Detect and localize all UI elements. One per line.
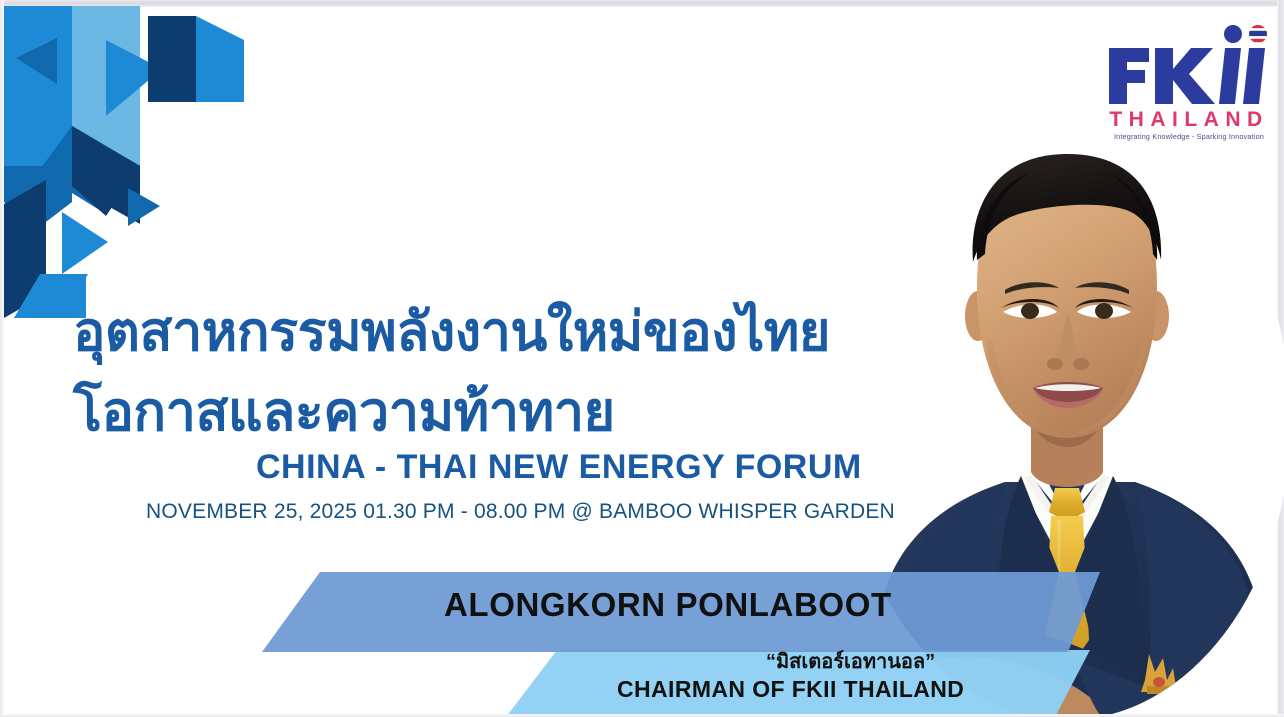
event-subtitle: CHINA - THAI NEW ENERGY FORUM — [256, 448, 862, 487]
thai-flag-dot — [1249, 25, 1267, 43]
speaker-name: ALONGKORN PONLABOOT — [444, 586, 892, 624]
headline-block: อุตสาหกรรมพลังงานใหม่ของไทย โอกาสและความ… — [73, 292, 973, 452]
fkii-logo-mark — [1103, 24, 1275, 108]
event-datetime-venue: NOVEMBER 25, 2025 01.30 PM - 08.00 PM @ … — [146, 500, 895, 524]
poster-canvas: อุตสาหกรรมพลังงานใหม่ของไทย โอกาสและความ… — [0, 0, 1284, 717]
page-left-edge — [0, 0, 4, 717]
speaker-role: CHAIRMAN OF FKII THAILAND — [617, 676, 964, 703]
fkii-logo-tagline: Integrating Knowledge - Sparking Innovat… — [1103, 132, 1275, 141]
fkii-logo: THAILAND Integrating Knowledge - Sparkin… — [1103, 24, 1275, 144]
speaker-nickname: “มิสเตอร์เอทานอล” — [766, 645, 935, 677]
headline-line-2: โอกาสและความท้าทาย — [73, 372, 973, 452]
fkii-logo-country: THAILAND — [1103, 108, 1275, 132]
headline-line-1: อุตสาหกรรมพลังงานใหม่ของไทย — [73, 292, 973, 372]
